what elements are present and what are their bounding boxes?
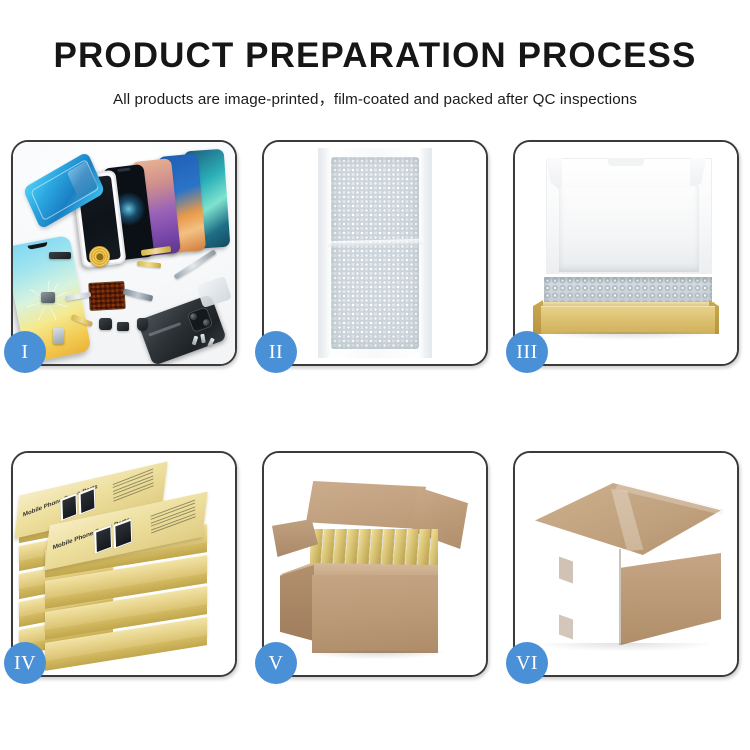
bubble-grid [331,157,419,349]
kraft-tray-front [541,306,715,334]
chip-component [137,318,148,331]
carton-seam [559,556,573,583]
camera-module [187,306,214,333]
process-step-card-3[interactable]: III [513,140,739,366]
carton-flap-back [306,481,426,529]
chip-component [99,318,112,330]
drop-shadow [545,332,711,340]
screw [200,334,206,344]
spec-lines [151,500,196,536]
step-image-2 [264,142,486,364]
screw [207,338,215,348]
step-image-4: Mobile Phone Spare Parts Mobile Phone Sp… [13,453,235,675]
printed-phone-image [79,487,96,515]
sleeve-edge [419,148,432,358]
drop-shadow [308,651,444,659]
spec-lines [113,469,154,504]
housing-highlight [148,322,181,336]
bubble-wrap-bag [318,148,432,358]
chip-component [53,328,64,344]
screw [192,336,199,346]
phone-notch [27,242,47,250]
step-image-1 [13,142,235,364]
printed-phone-image [60,493,77,521]
step-image-5 [264,453,486,675]
carton-right-panel [621,553,721,645]
step-badge-3: III [506,331,548,373]
printed-phone-image [94,525,112,554]
process-step-card-2[interactable]: II [262,140,488,366]
chip-component [49,252,71,259]
carton-corner-edge [619,549,621,645]
page-title: PRODUCT PREPARATION PROCESS [0,0,750,76]
wireless-charging-coil [89,246,110,267]
scene-sealed-carton [515,453,737,675]
scene-open-carton [264,453,486,675]
carton-front-panel [533,537,623,637]
scene-bubble-wrap [264,142,486,364]
step-badge-2: II [255,331,297,373]
process-step-grid: I II [11,140,739,677]
phone-notch [117,168,130,172]
process-step-card-6[interactable]: VI [513,451,739,677]
process-step-card-4[interactable]: Mobile Phone Spare Parts Mobile Phone Sp… [11,451,237,677]
carton-front-panel [312,575,438,653]
drop-shadow [541,643,709,651]
step-badge-4: IV [4,642,46,684]
process-step-card-5[interactable]: V [262,451,488,677]
page-subtitle: All products are image-printed，film-coat… [0,76,750,109]
lid-tab [608,158,644,166]
step-badge-6: VI [506,642,548,684]
box-side [45,635,207,671]
scene-stacked-retail-boxes: Mobile Phone Spare Parts Mobile Phone Sp… [13,453,235,675]
copper-pad-array [88,281,125,311]
sleeve-edge [318,148,331,358]
carton-seam [559,614,573,639]
chip-component [41,292,55,303]
step-image-6 [515,453,737,675]
step-badge-5: V [255,642,297,684]
kraft-retail-box-stack: Mobile Phone Spare Parts Mobile Phone Sp… [13,453,235,675]
carton-side-panel [280,565,314,641]
chip-component [117,322,129,331]
process-step-card-1[interactable]: I [11,140,237,366]
screws-group [193,334,219,350]
scene-open-kraft-box [515,142,737,364]
step-badge-1: I [4,331,46,373]
printed-phone-image [113,519,132,549]
page-header: PRODUCT PREPARATION PROCESS All products… [0,0,750,109]
step-image-3 [515,142,737,364]
scene-phone-parts [13,142,235,364]
foam-pad [559,186,699,272]
